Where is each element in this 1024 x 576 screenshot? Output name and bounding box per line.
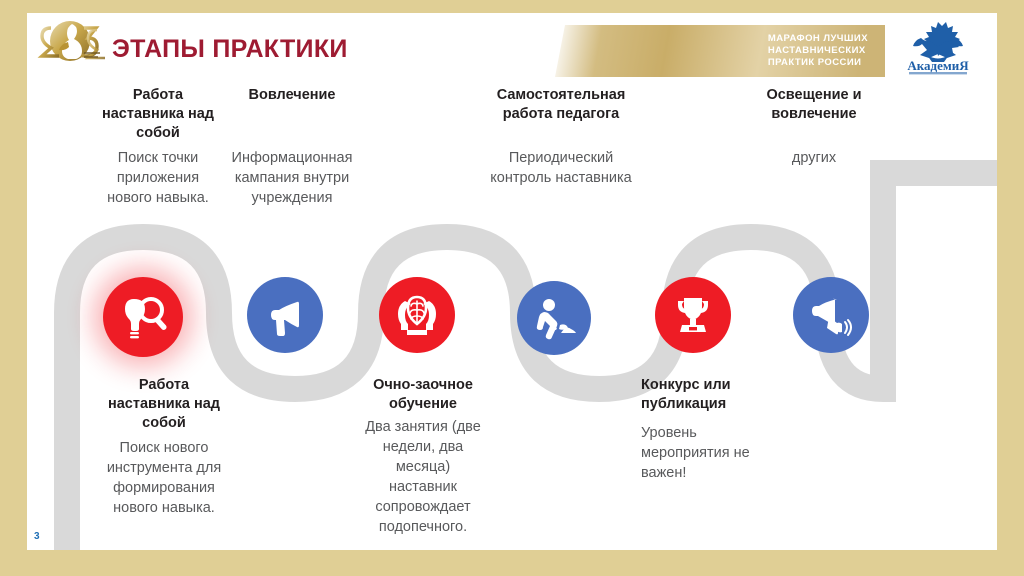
stage-bottom-3-heading: Конкурс или публикация — [641, 376, 811, 414]
node-6-megaphone-broadcast[interactable] — [793, 277, 869, 353]
stage-bottom-3-body: Уровень мероприятия не важен! — [641, 423, 811, 483]
heads-brain-icon — [393, 291, 441, 339]
stage-bottom-3: Конкурс или публикация Уровень мероприят… — [641, 376, 811, 483]
megaphone-broadcast-icon — [807, 291, 855, 339]
academy-logo: АкадемиЯ — [897, 18, 979, 76]
slide-root: ЭТАПЫ ПРАКТИКИ МАРАФОН ЛУЧШИХ НАСТАВНИЧЕ… — [0, 0, 1024, 576]
stage-bottom-1-body: Поиск нового инструмента для формировани… — [69, 438, 259, 518]
stage-top-4-body: других — [719, 148, 909, 168]
stage-top-4: Освещение и вовлечение других — [719, 86, 909, 168]
node-5-trophy[interactable] — [655, 277, 731, 353]
stage-top-2: Вовлечение Информационная кампания внутр… — [211, 86, 373, 208]
svg-text:АкадемиЯ: АкадемиЯ — [907, 58, 969, 73]
page-number: 3 — [34, 531, 40, 542]
node-3-heads-brain[interactable] — [379, 277, 455, 353]
slide-canvas: ЭТАПЫ ПРАКТИКИ МАРАФОН ЛУЧШИХ НАСТАВНИЧЕ… — [27, 13, 997, 550]
stage-top-3: Самостоятельная работа педагога Периодич… — [451, 86, 671, 188]
stage-top-2-heading: Вовлечение — [211, 86, 373, 105]
stage-bottom-1-heading: Работа наставника над собой — [69, 376, 259, 433]
slide-header: ЭТАПЫ ПРАКТИКИ МАРАФОН ЛУЧШИХ НАСТАВНИЧЕ… — [27, 13, 997, 79]
year-2023-logo — [27, 16, 113, 72]
stage-top-4-heading: Освещение и вовлечение — [719, 86, 909, 124]
page-title: ЭТАПЫ ПРАКТИКИ — [112, 35, 348, 64]
megaphone-icon — [263, 293, 307, 337]
stage-top-3-heading: Самостоятельная работа педагога — [451, 86, 671, 124]
stage-bottom-2-body: Два занятия (две недели, два месяца) нас… — [337, 417, 509, 537]
node-1-lightbulb-magnifier[interactable] — [103, 277, 183, 357]
trophy-icon — [670, 292, 716, 338]
lightbulb-magnifier-icon — [117, 291, 169, 343]
stage-top-2-body: Информационная кампания внутри учреждени… — [211, 148, 373, 208]
marathon-banner-text: МАРАФОН ЛУЧШИХ НАСТАВНИЧЕСКИХ ПРАКТИК РО… — [768, 33, 868, 70]
node-4-worker-shovel[interactable] — [517, 281, 591, 355]
stage-top-3-body: Периодический контроль наставника — [451, 148, 671, 188]
stage-bottom-2-heading: Очно-заочное обучение — [337, 376, 509, 414]
worker-shovel-icon — [531, 295, 577, 341]
node-2-megaphone[interactable] — [247, 277, 323, 353]
stage-bottom-2: Очно-заочное обучение Два занятия (две н… — [337, 376, 509, 537]
stage-bottom-1: Работа наставника над собой Поиск нового… — [69, 376, 259, 518]
